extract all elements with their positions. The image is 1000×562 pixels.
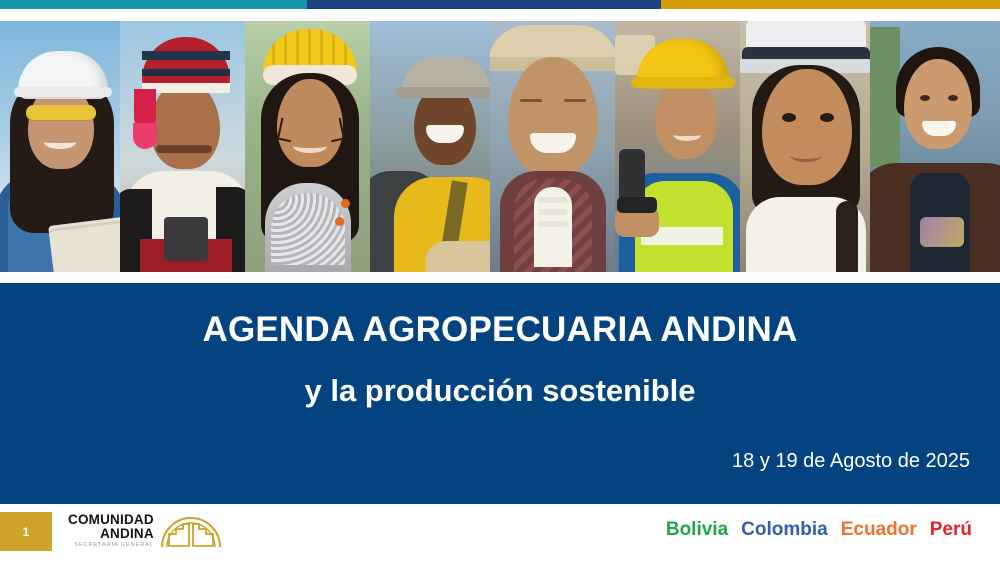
top-bar-segment-teal: [0, 0, 307, 9]
logo-line-secretaria-general: SECRETARÍA GENERAL: [68, 543, 154, 549]
photo-panel-indigenous-girl: [740, 21, 870, 272]
country-bolivia: Bolivia: [666, 519, 728, 541]
photo-panel-young-man: [870, 21, 1000, 272]
page-title: AGENDA AGROPECUARIA ANDINA: [0, 310, 1000, 350]
title-block: AGENDA AGROPECUARIA ANDINA y la producci…: [0, 283, 1000, 504]
logo-wordmark: COMUNIDAD ANDINA SECRETARÍA GENERAL: [68, 513, 154, 548]
top-color-bar: [0, 0, 1000, 9]
top-bar-segment-gold: [661, 0, 1000, 9]
photo-strip: [0, 21, 1000, 272]
page-subtitle: y la producción sostenible: [0, 373, 1000, 409]
photo-panel-laughing-man: [370, 21, 490, 272]
event-date: 18 y 19 de Agosto de 2025: [732, 450, 970, 473]
logo-line-andina: ANDINA: [68, 527, 154, 541]
member-countries: Bolivia Colombia Ecuador Perú: [666, 519, 972, 541]
photo-panel-amazonian-woman: [245, 21, 370, 272]
slide-footer: 1 COMUNIDAD ANDINA SECRETARÍA GENERAL Bo…: [0, 504, 1000, 562]
presentation-slide: AGENDA AGROPECUARIA ANDINA y la producci…: [0, 0, 1000, 562]
page-number-badge: 1: [0, 512, 52, 551]
comunidad-andina-logo: COMUNIDAD ANDINA SECRETARÍA GENERAL: [68, 513, 222, 548]
photo-panel-andean-weaver: [120, 21, 245, 272]
country-peru: Perú: [930, 519, 972, 541]
andean-arch-logo-icon: [160, 514, 222, 548]
photo-panel-engineer-woman: [0, 21, 120, 272]
logo-line-comunidad: COMUNIDAD: [68, 513, 154, 527]
country-colombia: Colombia: [741, 519, 828, 541]
photo-panel-construction-worker: [615, 21, 740, 272]
photo-panel-elderly-woman: [490, 21, 615, 272]
country-ecuador: Ecuador: [841, 519, 917, 541]
top-bar-segment-blue: [307, 0, 661, 9]
